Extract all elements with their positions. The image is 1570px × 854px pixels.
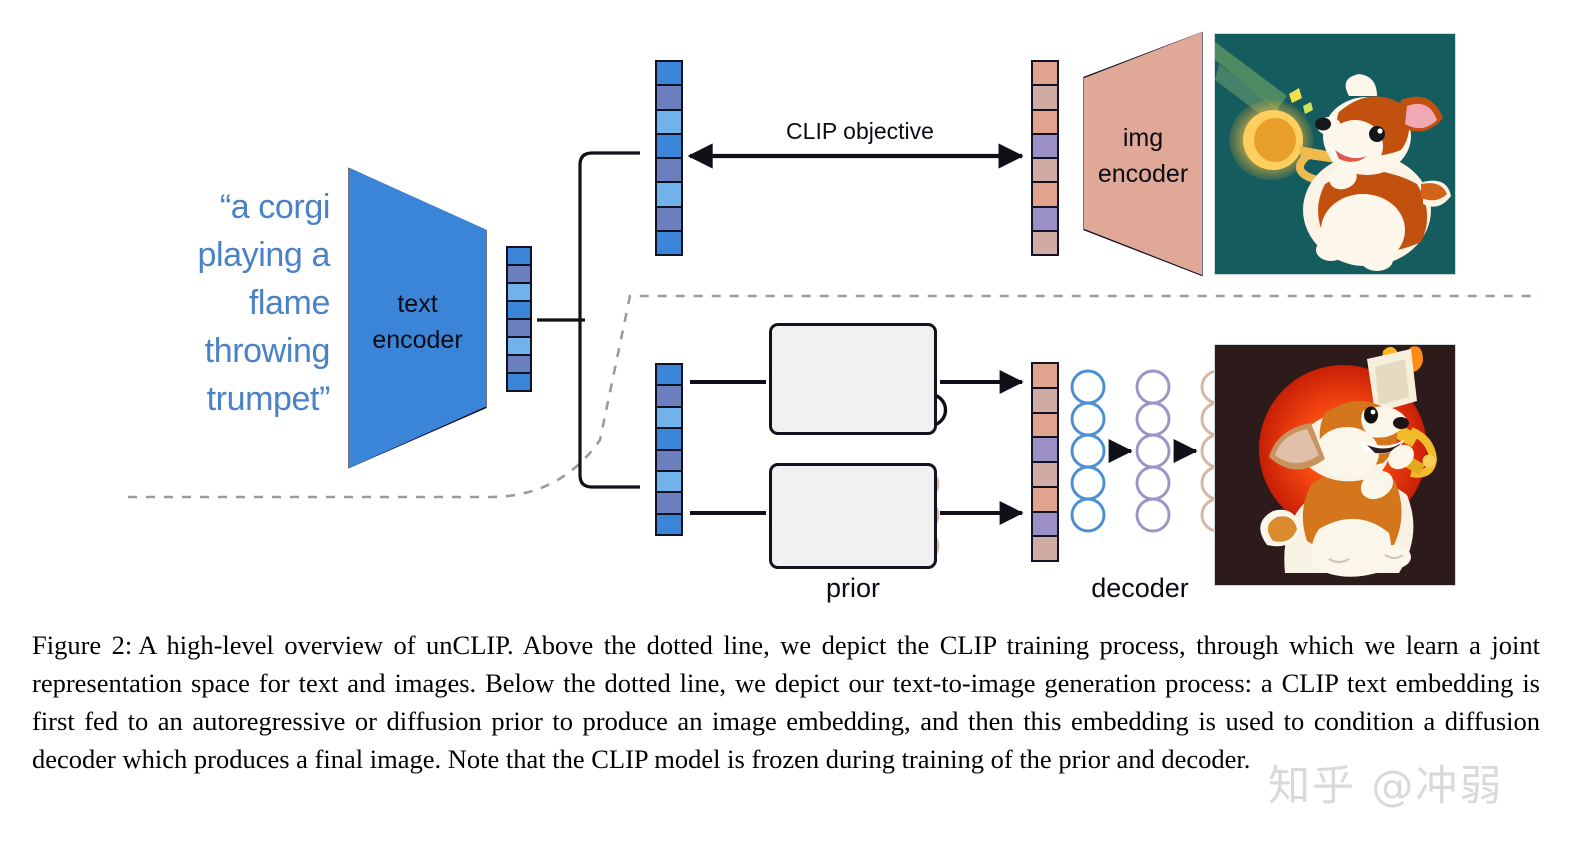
embedding-cell bbox=[1033, 389, 1057, 414]
figure-caption: Figure 2:A high-level overview of unCLIP… bbox=[32, 626, 1540, 778]
decoder-label: decoder bbox=[1045, 573, 1235, 604]
embedding-cell bbox=[657, 365, 681, 386]
img-encoder-label: img encoder bbox=[1078, 120, 1208, 192]
embedding-cell bbox=[1033, 513, 1057, 538]
diffusion-prior-box bbox=[769, 463, 937, 569]
embedding-cell bbox=[657, 159, 681, 183]
embedding-cell bbox=[1033, 414, 1057, 439]
embedding-cell bbox=[508, 266, 530, 284]
prior-label: prior bbox=[769, 573, 937, 604]
corgi-trombone-dark-art bbox=[1215, 345, 1456, 586]
embedding-cell bbox=[657, 232, 681, 254]
embedding-cell bbox=[1033, 111, 1057, 135]
embedding-cell bbox=[1033, 463, 1057, 488]
autoregressive-prior-box bbox=[769, 323, 937, 435]
caption-body: A high-level overview of unCLIP. Above t… bbox=[32, 630, 1540, 774]
text-embedding-vector-output bbox=[506, 246, 532, 392]
embedding-cell bbox=[508, 320, 530, 338]
prompt-text: “a corgi playing a flame throwing trumpe… bbox=[150, 183, 330, 423]
embedding-cell bbox=[657, 86, 681, 110]
embedding-cell bbox=[1033, 135, 1057, 159]
image-embedding-vector-clip bbox=[1031, 60, 1059, 256]
text-encoder-label: text encoder bbox=[349, 286, 486, 358]
embedding-cell bbox=[1033, 86, 1057, 110]
embedding-cell bbox=[657, 493, 681, 514]
text-embedding-vector-prior-input bbox=[655, 363, 683, 536]
embedding-cell bbox=[657, 208, 681, 232]
embedding-cell bbox=[657, 429, 681, 450]
embedding-cell bbox=[508, 356, 530, 374]
image-embedding-vector-decoder-input bbox=[1031, 362, 1059, 562]
decoder-network-graph bbox=[1072, 371, 1234, 531]
embedding-cell bbox=[1033, 438, 1057, 463]
caption-lead: Figure 2: bbox=[32, 630, 132, 660]
embedding-cell bbox=[657, 183, 681, 207]
embedding-cell bbox=[657, 386, 681, 407]
embedding-cell bbox=[1033, 183, 1057, 207]
corgi-trumpet-teal-art bbox=[1215, 34, 1456, 275]
embedding-cell bbox=[657, 451, 681, 472]
embedding-cell bbox=[1033, 364, 1057, 389]
generated-image-bottom bbox=[1214, 344, 1456, 586]
embedding-cell bbox=[1033, 208, 1057, 232]
embedding-cell bbox=[508, 248, 530, 266]
embedding-cell bbox=[657, 111, 681, 135]
embedding-cell bbox=[657, 135, 681, 159]
embedding-cell bbox=[508, 302, 530, 320]
embedding-cell bbox=[508, 374, 530, 390]
embedding-cell bbox=[657, 472, 681, 493]
embedding-cell bbox=[508, 338, 530, 356]
embedding-cell bbox=[508, 284, 530, 302]
embedding-cell bbox=[1033, 537, 1057, 560]
embedding-cell bbox=[1033, 62, 1057, 86]
generated-image-top bbox=[1214, 33, 1456, 275]
embedding-cell bbox=[657, 408, 681, 429]
embedding-cell bbox=[1033, 232, 1057, 254]
embedding-cell bbox=[1033, 159, 1057, 183]
embedding-cell bbox=[657, 515, 681, 534]
embedding-cell bbox=[1033, 488, 1057, 513]
clip-objective-label: CLIP objective bbox=[760, 118, 960, 145]
text-embedding-vector-clip bbox=[655, 60, 683, 256]
embedding-cell bbox=[657, 62, 681, 86]
